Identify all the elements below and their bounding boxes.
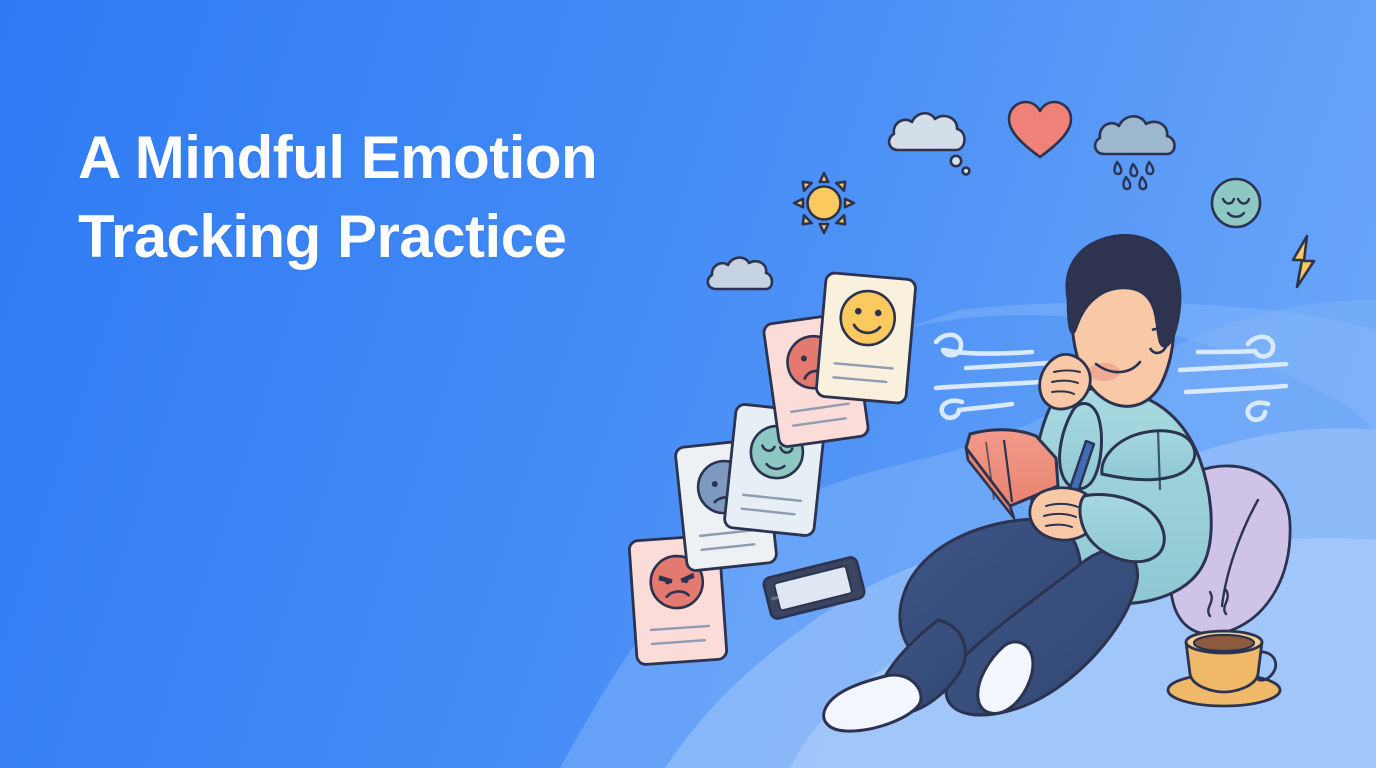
rain-cloud-icon <box>1095 116 1174 189</box>
sun-icon <box>794 173 854 233</box>
calm-face-icon <box>1212 179 1260 227</box>
card-happy[interactable] <box>816 272 916 403</box>
page-title: A Mindful Emotion Tracking Practice <box>78 118 738 276</box>
lightning-bolt-icon <box>1293 236 1314 287</box>
illustration-canvas <box>0 0 1376 768</box>
thought-cloud-icon <box>889 113 969 174</box>
hero-banner: A Mindful Emotion Tracking Practice <box>0 0 1376 768</box>
heart-icon <box>1009 102 1071 157</box>
